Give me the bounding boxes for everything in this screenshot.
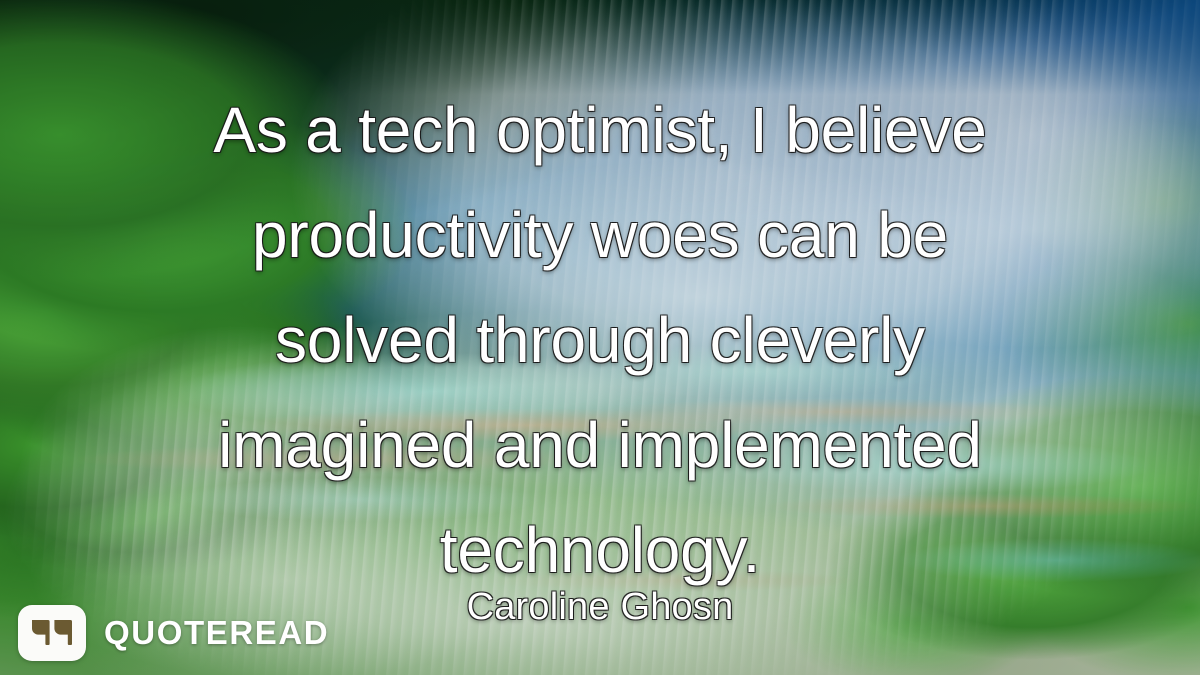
brand-wordmark: QUOTEREAD xyxy=(104,614,329,652)
brand-logo-mark xyxy=(18,605,86,661)
quote-line-2: productivity woes can be xyxy=(0,183,1200,288)
quote-line-3: solved through cleverly xyxy=(0,288,1200,393)
quote-line-4: imagined and implemented xyxy=(0,393,1200,498)
quote-card: As a tech optimist, I believe productivi… xyxy=(0,0,1200,675)
quote-line-1: As a tech optimist, I believe xyxy=(0,78,1200,183)
quotation-marks-icon xyxy=(30,618,74,648)
brand-lockup[interactable]: QUOTEREAD xyxy=(18,605,329,661)
quote-text: As a tech optimist, I believe productivi… xyxy=(0,78,1200,603)
